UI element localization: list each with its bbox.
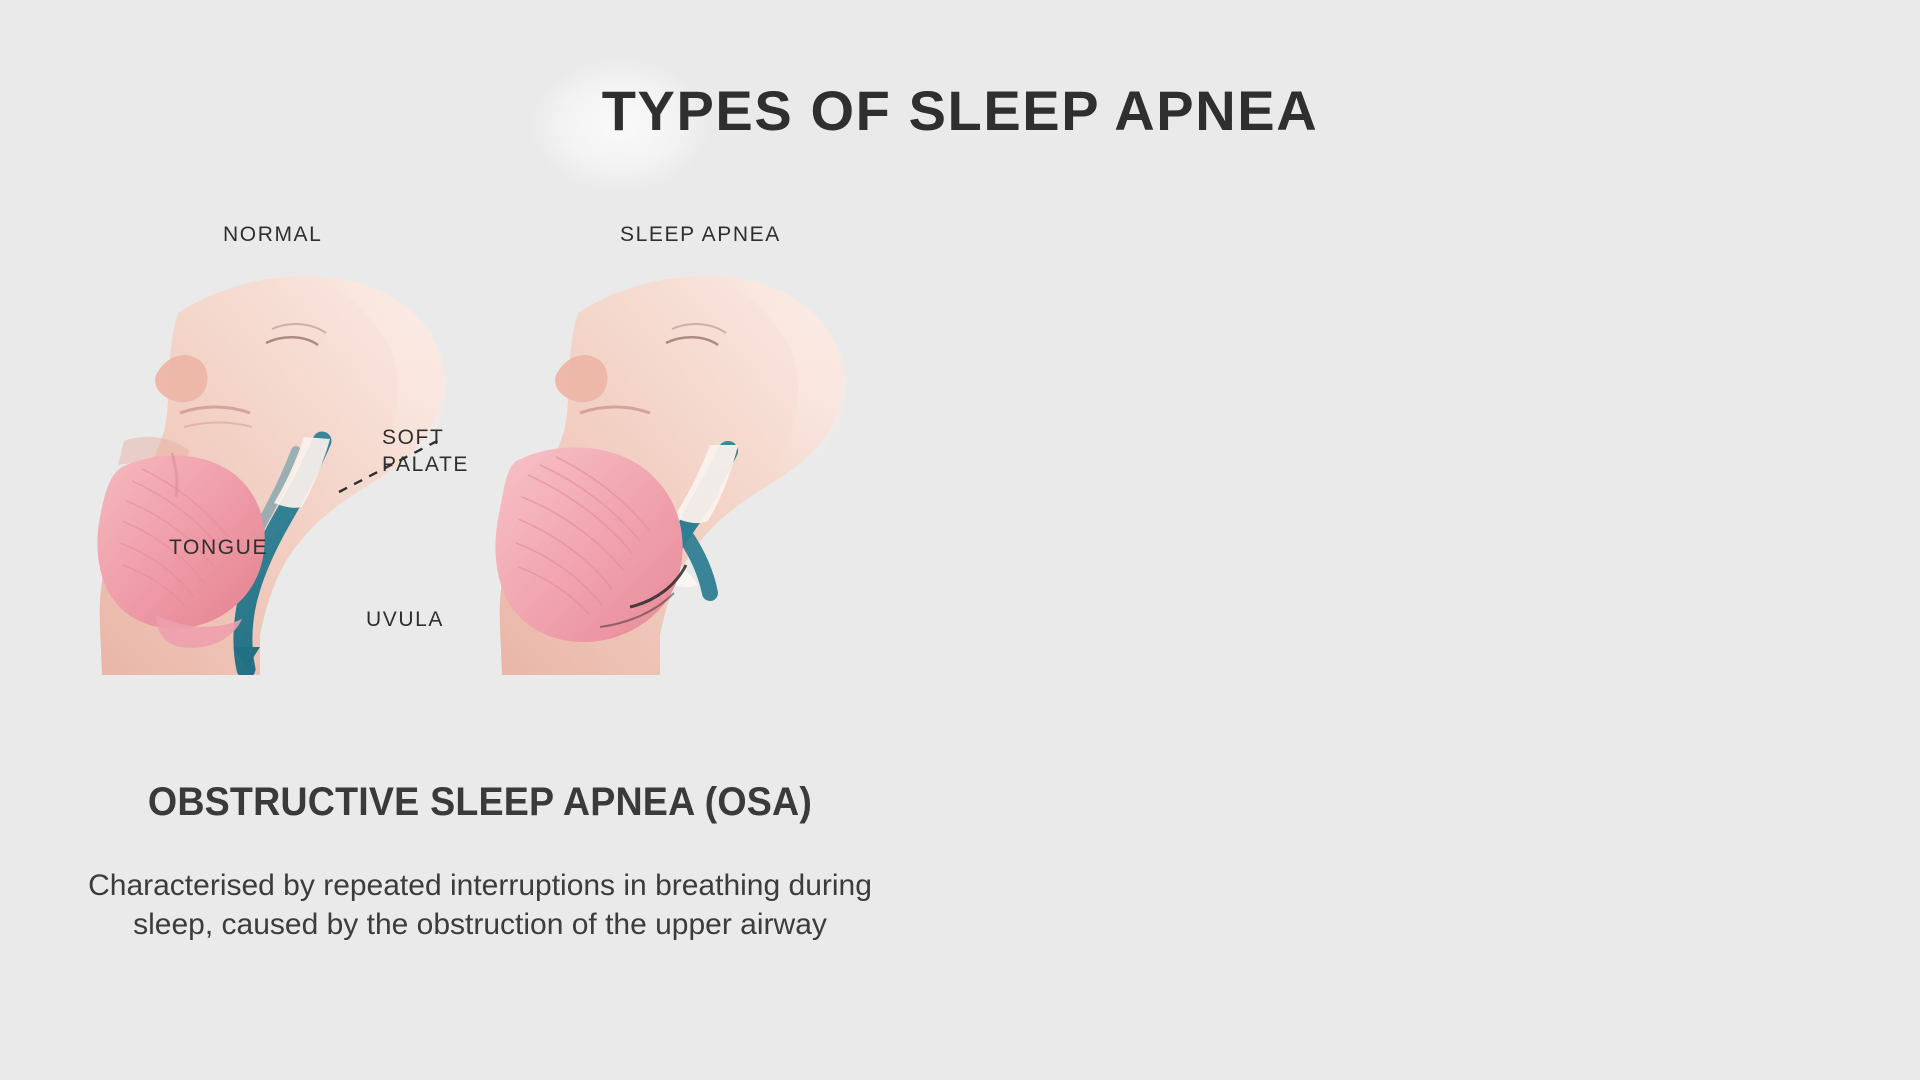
- description-osa: Characterised by repeated interruptions …: [70, 866, 890, 944]
- heading-osa: OBSTRUCTIVE SLEEP APNEA (OSA): [29, 780, 931, 825]
- label-sleep-apnea: SLEEP APNEA: [620, 222, 781, 249]
- panel-central-sleep-apnea: OPEN AIRWAY BRAIN DOES NOT SIGNAL BREATH…: [1030, 0, 1920, 1080]
- label-uvula: UVULA: [366, 607, 444, 634]
- label-normal: NORMAL: [223, 222, 322, 249]
- illustration-obstructed-airway: [460, 255, 860, 675]
- label-soft-palate: SOFT PALATE: [382, 425, 469, 479]
- panel-obstructive-sleep-apnea: NORMAL SLEEP APNEA SOFT PALATE TONGUE UV…: [0, 0, 1030, 1080]
- label-tongue: TONGUE: [169, 535, 268, 562]
